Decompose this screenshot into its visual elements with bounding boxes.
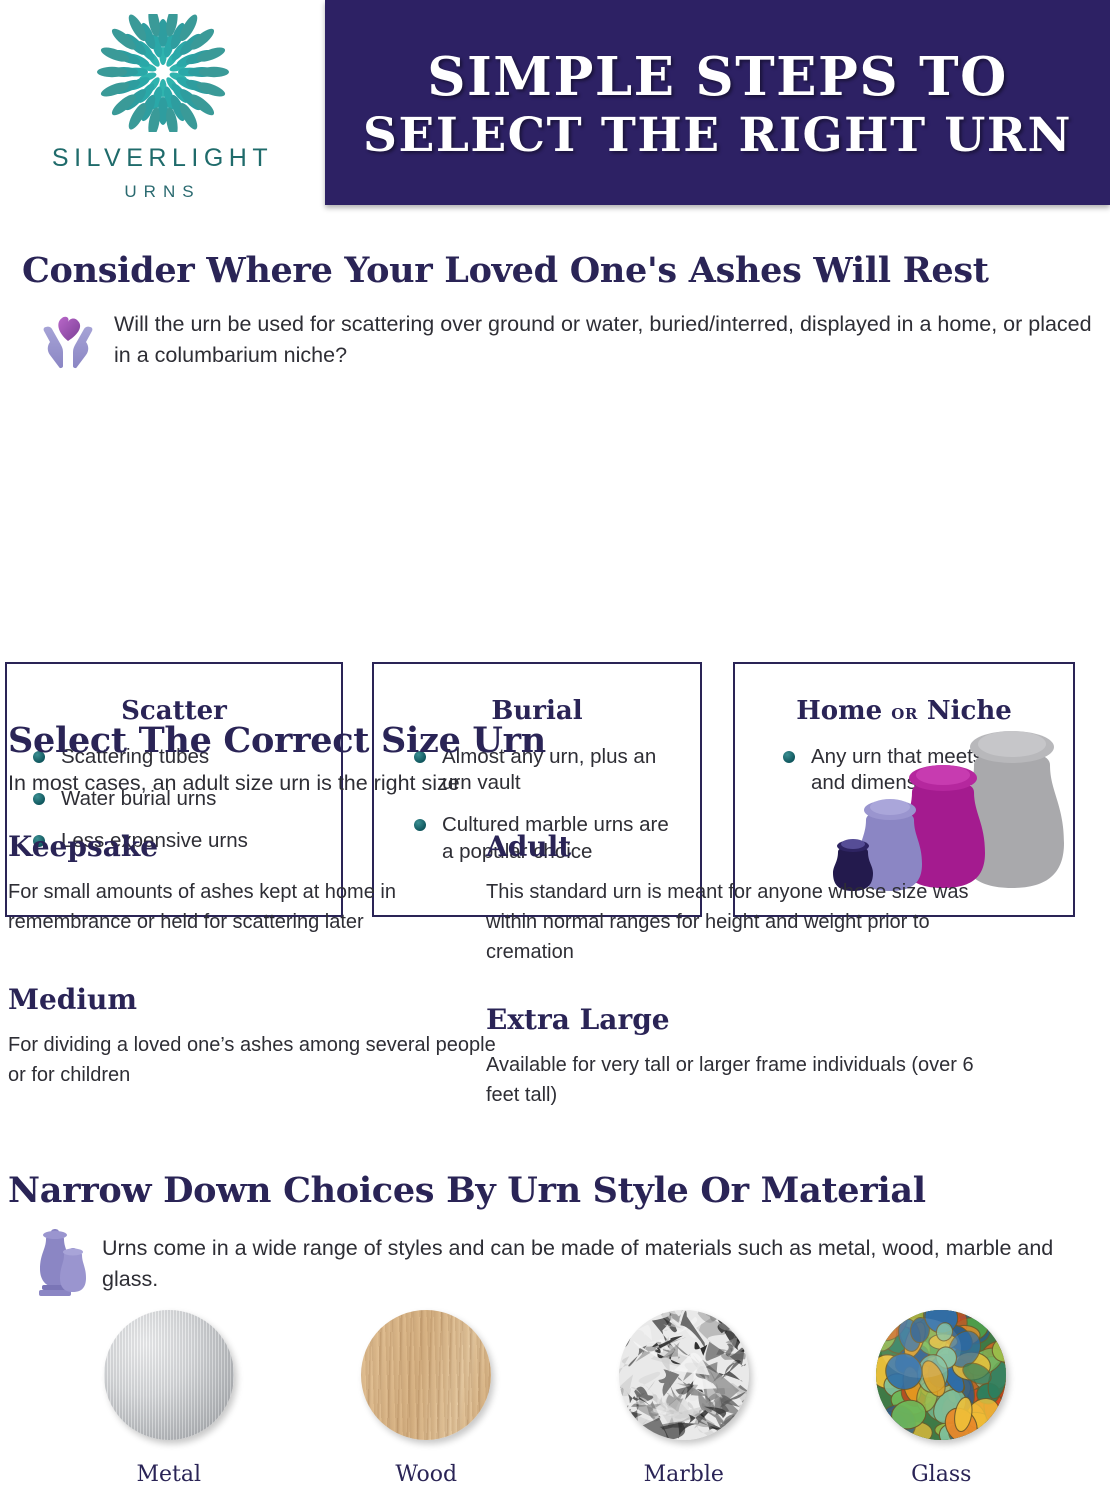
section-select-size: Select The Correct Size Urn In most case… bbox=[8, 720, 1102, 1140]
size-adult-title: Adult bbox=[486, 830, 976, 863]
size-grid: Keepsake For small amounts of ashes kept… bbox=[8, 830, 1102, 1140]
black-white-marble-swatch-icon bbox=[619, 1310, 749, 1440]
size-medium: Medium For dividing a loved one’s ashes … bbox=[8, 983, 498, 1090]
radial-burst-logo-icon bbox=[97, 14, 229, 132]
brand-logo: SILVERLIGHT URNS bbox=[0, 0, 325, 212]
size-extra-large-title: Extra Large bbox=[486, 1003, 976, 1036]
material-wood-label: Wood bbox=[326, 1462, 526, 1487]
size-keepsake: Keepsake For small amounts of ashes kept… bbox=[8, 830, 498, 937]
size-column-left: Keepsake For small amounts of ashes kept… bbox=[8, 830, 498, 1126]
material-marble-label: Marble bbox=[584, 1462, 784, 1487]
size-column-right: Adult This standard urn is meant for any… bbox=[486, 830, 976, 1146]
brushed-metal-swatch-icon bbox=[104, 1310, 234, 1440]
size-adult-desc: This standard urn is meant for anyone wh… bbox=[486, 877, 976, 967]
two-urns-icon bbox=[26, 1223, 88, 1303]
section-where-ashes-rest: Consider Where Your Loved One's Ashes Wi… bbox=[22, 250, 1092, 370]
section3-intro: Urns come in a wide range of styles and … bbox=[102, 1227, 1102, 1294]
material-marble: Marble bbox=[584, 1310, 784, 1487]
heart-in-hands-icon bbox=[36, 311, 100, 369]
wood-grain-swatch-icon bbox=[361, 1310, 491, 1440]
section1-intro: Will the urn be used for scattering over… bbox=[114, 309, 1092, 370]
size-adult: Adult This standard urn is meant for any… bbox=[486, 830, 976, 967]
brand-subtitle: URNS bbox=[124, 182, 200, 202]
banner-line-2: SELECT THE RIGHT URN bbox=[363, 111, 1072, 161]
material-metal: Metal bbox=[69, 1310, 269, 1487]
section3-title: Narrow Down Choices By Urn Style Or Mate… bbox=[8, 1170, 1102, 1211]
material-glass-label: Glass bbox=[841, 1462, 1041, 1487]
brand-name: SILVERLIGHT bbox=[52, 144, 273, 173]
section-style-material: Narrow Down Choices By Urn Style Or Mate… bbox=[8, 1170, 1102, 1303]
title-banner: SIMPLE STEPS TO SELECT THE RIGHT URN bbox=[325, 0, 1110, 205]
banner-line-1: SIMPLE STEPS TO bbox=[427, 49, 1008, 105]
material-wood: Wood bbox=[326, 1310, 526, 1487]
material-glass: Glass bbox=[841, 1310, 1041, 1487]
size-extra-large-desc: Available for very tall or larger frame … bbox=[486, 1050, 976, 1110]
page-header: SILVERLIGHT URNS SIMPLE STEPS TO SELECT … bbox=[0, 0, 1110, 212]
size-medium-desc: For dividing a loved one’s ashes among s… bbox=[8, 1030, 498, 1090]
size-keepsake-title: Keepsake bbox=[8, 830, 498, 863]
multicolor-art-glass-swatch-icon bbox=[876, 1310, 1006, 1440]
size-extra-large: Extra Large Available for very tall or l… bbox=[486, 1003, 976, 1110]
section1-title: Consider Where Your Loved One's Ashes Wi… bbox=[22, 250, 1092, 291]
material-metal-label: Metal bbox=[69, 1462, 269, 1487]
size-keepsake-desc: For small amounts of ashes kept at home … bbox=[8, 877, 498, 937]
material-swatch-row: Metal Wood Marble Glass bbox=[40, 1310, 1070, 1487]
size-medium-title: Medium bbox=[8, 983, 498, 1016]
